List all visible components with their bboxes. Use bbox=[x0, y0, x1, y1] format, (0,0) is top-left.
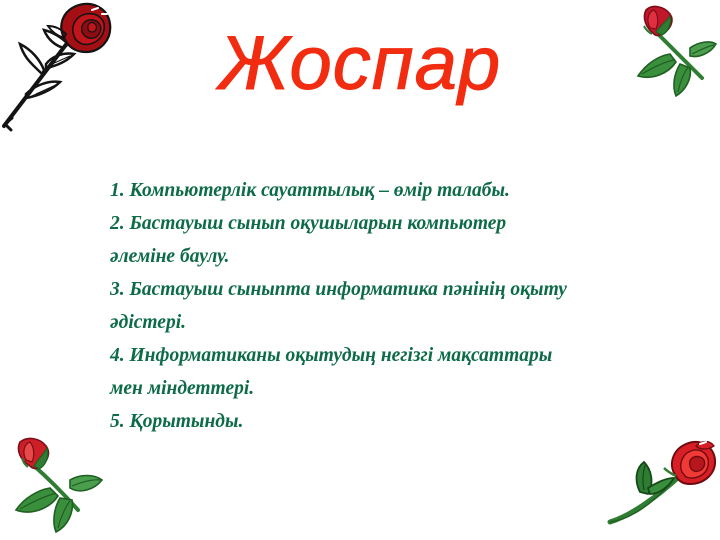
plan-list: 1. Компьютерлік сауаттылық – өмір талабы… bbox=[110, 174, 690, 438]
rose-bud bbox=[18, 439, 48, 469]
page-title: Жоспар bbox=[0, 26, 720, 102]
rose-bottom-left-decoration bbox=[4, 436, 120, 538]
rose-bottom-right-decoration bbox=[596, 432, 718, 538]
plan-line: 3. Бастауыш сыныпта информатика пәнінің … bbox=[110, 273, 690, 306]
plan-line: 4. Информатиканы оқытудың негізгі мақсат… bbox=[110, 339, 690, 372]
plan-line: 5. Қорытынды. bbox=[110, 405, 690, 438]
plan-line: 2. Бастауыш сынып оқушыларын компьютер bbox=[110, 207, 690, 240]
plan-line: 1. Компьютерлік сауаттылық – өмір талабы… bbox=[110, 174, 690, 207]
plan-line: мен міндеттері. bbox=[110, 372, 690, 405]
plan-line: әдістері. bbox=[110, 306, 690, 339]
slide: Жоспар 1. Компьютерлік сауаттылық – өмір… bbox=[0, 0, 720, 540]
plan-line: әлеміне баулу. bbox=[110, 240, 690, 273]
rose-stem bbox=[16, 464, 102, 532]
rose-stem bbox=[610, 462, 682, 522]
